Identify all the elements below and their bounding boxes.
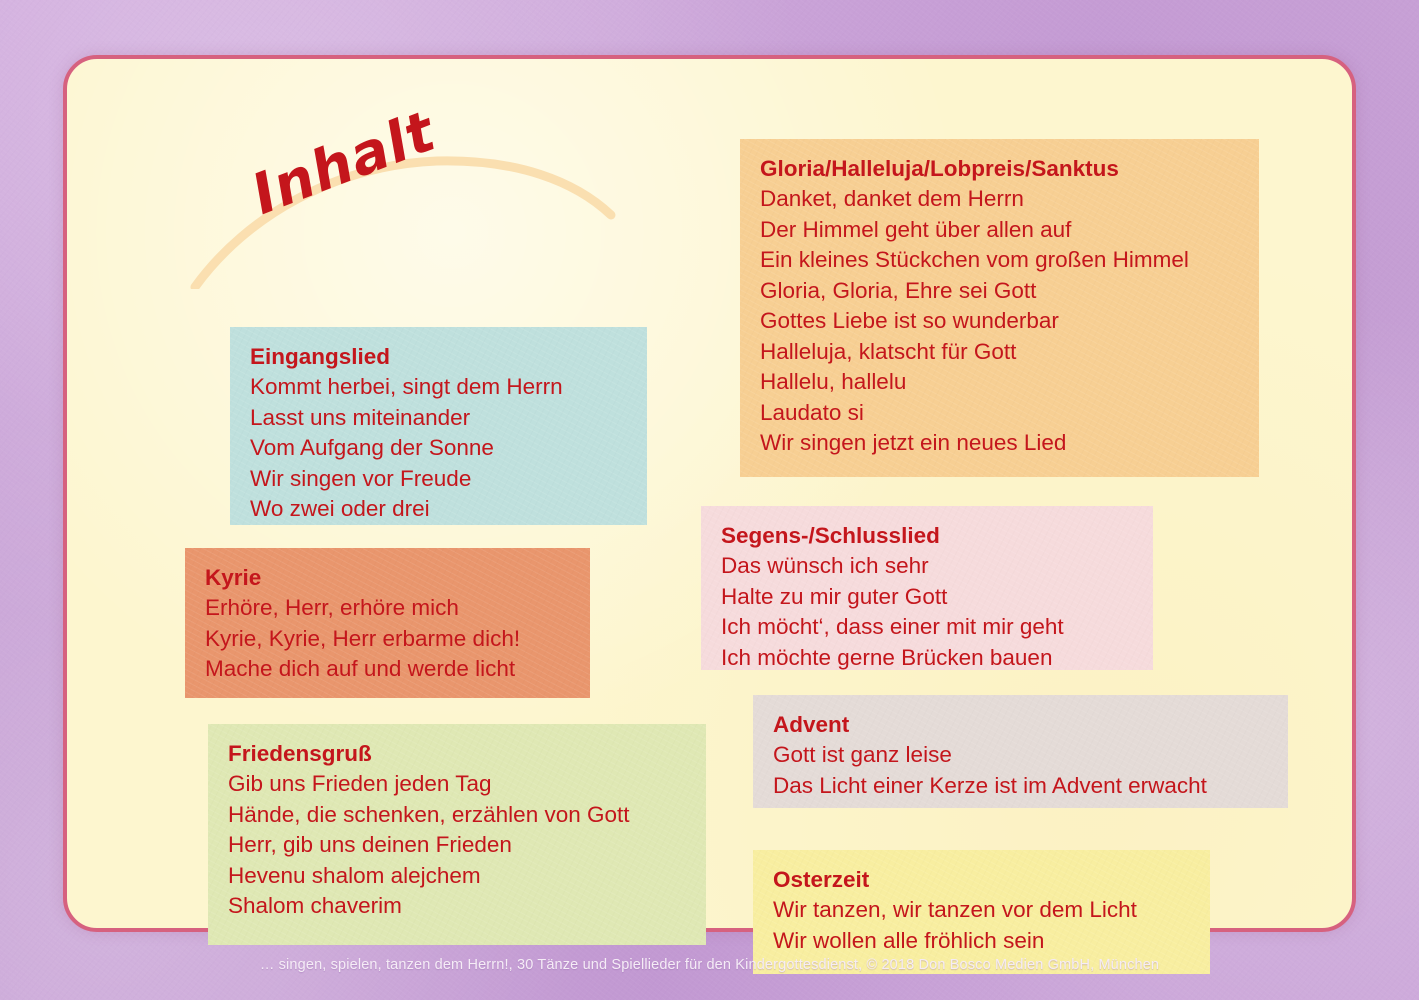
- song-title: Kommt herbei, singt dem Herrn: [250, 372, 627, 403]
- song-title: Hallelu, hallelu: [760, 367, 1239, 398]
- song-title: Laudato si: [760, 398, 1239, 429]
- song-title: Mache dich auf und werde licht: [205, 654, 570, 685]
- topic-block-friedensgruss: Friedensgruß Gib uns Frieden jeden Tag H…: [208, 724, 706, 945]
- topic-song-list: Kommt herbei, singt dem Herrn Lasst uns …: [250, 372, 627, 525]
- content-card: Inhalt Eingangslied Kommt herbei, singt …: [63, 55, 1356, 932]
- song-title: Lasst uns miteinander: [250, 403, 627, 434]
- song-title: Erhöre, Herr, erhöre mich: [205, 593, 570, 624]
- topic-block-eingangslied: Eingangslied Kommt herbei, singt dem Her…: [230, 327, 647, 525]
- topic-block-gloria: Gloria/Halleluja/Lobpreis/Sanktus Danket…: [740, 139, 1259, 477]
- song-title: Gib uns Frieden jeden Tag: [228, 769, 686, 800]
- topic-song-list: Das wünsch ich sehr Halte zu mir guter G…: [721, 551, 1133, 673]
- topic-title: Kyrie: [205, 562, 570, 593]
- topic-title: Osterzeit: [773, 864, 1190, 895]
- song-title: Danket, danket dem Herrn: [760, 184, 1239, 215]
- song-title: Ich möcht‘, dass einer mit mir geht: [721, 612, 1133, 643]
- page-title: Inhalt: [243, 99, 444, 228]
- song-title: Wo zwei oder drei: [250, 494, 627, 525]
- topic-block-segenslied: Segens-/Schlusslied Das wünsch ich sehr …: [701, 506, 1153, 670]
- song-title: Shalom chaverim: [228, 891, 686, 922]
- song-title: Gott ist ganz leise: [773, 740, 1268, 771]
- song-title: Kyrie, Kyrie, Herr erbarme dich!: [205, 624, 570, 655]
- song-title: Herr, gib uns deinen Frieden: [228, 830, 686, 861]
- song-title: Wir singen jetzt ein neues Lied: [760, 428, 1239, 459]
- song-title: Halleluja, klatscht für Gott: [760, 337, 1239, 368]
- song-title: Wir singen vor Freude: [250, 464, 627, 495]
- song-title: Das wünsch ich sehr: [721, 551, 1133, 582]
- topic-song-list: Erhöre, Herr, erhöre mich Kyrie, Kyrie, …: [205, 593, 570, 685]
- page-title-group: Inhalt: [187, 119, 617, 289]
- topic-block-kyrie: Kyrie Erhöre, Herr, erhöre mich Kyrie, K…: [185, 548, 590, 698]
- song-title: Ich möchte gerne Brücken bauen: [721, 643, 1133, 674]
- topic-song-list: Gib uns Frieden jeden Tag Hände, die sch…: [228, 769, 686, 922]
- song-title: Hände, die schenken, erzählen von Gott: [228, 800, 686, 831]
- topic-song-list: Danket, danket dem Herrn Der Himmel geht…: [760, 184, 1239, 459]
- footer-credit: … singen, spielen, tanzen dem Herrn!, 30…: [0, 957, 1419, 973]
- song-title: Das Licht einer Kerze ist im Advent erwa…: [773, 771, 1268, 802]
- song-title: Hevenu shalom alejchem: [228, 861, 686, 892]
- topic-song-list: Gott ist ganz leise Das Licht einer Kerz…: [773, 740, 1268, 801]
- song-title: Halte zu mir guter Gott: [721, 582, 1133, 613]
- song-title: Der Himmel geht über allen auf: [760, 215, 1239, 246]
- song-title: Ein kleines Stückchen vom großen Himmel: [760, 245, 1239, 276]
- topic-title: Gloria/Halleluja/Lobpreis/Sanktus: [760, 153, 1239, 184]
- topic-title: Segens-/Schlusslied: [721, 520, 1133, 551]
- song-title: Gottes Liebe ist so wunderbar: [760, 306, 1239, 337]
- topic-song-list: Wir tanzen, wir tanzen vor dem Licht Wir…: [773, 895, 1190, 956]
- topic-title: Friedensgruß: [228, 738, 686, 769]
- song-title: Gloria, Gloria, Ehre sei Gott: [760, 276, 1239, 307]
- swoosh-underline-icon: [187, 119, 617, 289]
- song-title: Wir tanzen, wir tanzen vor dem Licht: [773, 895, 1190, 926]
- topic-title: Advent: [773, 709, 1268, 740]
- topic-title: Eingangslied: [250, 341, 627, 372]
- song-title: Wir wollen alle fröhlich sein: [773, 926, 1190, 957]
- topic-block-osterzeit: Osterzeit Wir tanzen, wir tanzen vor dem…: [753, 850, 1210, 974]
- topic-block-advent: Advent Gott ist ganz leise Das Licht ein…: [753, 695, 1288, 808]
- song-title: Vom Aufgang der Sonne: [250, 433, 627, 464]
